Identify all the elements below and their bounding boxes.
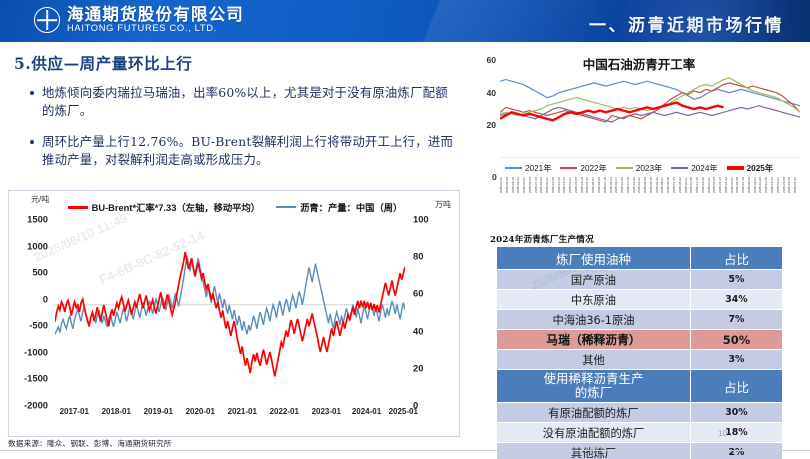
y-tick-left: 0 (9, 293, 53, 304)
haitong-logo-icon (34, 7, 60, 33)
y-tick-right: 80 (407, 251, 447, 262)
refinery-production-table: 炼厂使用油种 占比 国产原油 5% 中东原油 34% 中海油36-1原油 7% (496, 246, 783, 459)
y-tick-left: -2000 (9, 400, 53, 411)
chart-x-axis: 2017-01 2018-01 2019-01 2020-01 2021-01 … (55, 407, 405, 421)
company-logo: 海通期货股份有限公司 HAITONG FUTURES CO., LTD. (34, 6, 244, 34)
legend-item-2025: 2025年 (727, 162, 773, 174)
column-header-share-2: 占比 (691, 370, 783, 403)
series-line-2021 (500, 80, 800, 106)
table-row: 国产原油 5% (497, 270, 783, 290)
table-row: 中海油36-1原油 7% (497, 310, 783, 330)
legend-swatch-red (68, 206, 88, 209)
header-line-1: 使用稀释沥青生产 (543, 371, 643, 386)
cell-share: 30% (691, 403, 783, 423)
table-header-row-2: 使用稀释沥青生产 的炼厂 占比 (497, 370, 783, 403)
bullet-text: 周环比产量上行12.76%。BU-Brent裂解利润上行将带动开工上行，进而推动… (42, 133, 454, 169)
legend-swatch-blue (276, 206, 296, 209)
slide-body: 5.供应—周产量环比上行 地炼倾向委内瑞拉马瑞油，出率60%以上，尤其是对于没有… (0, 42, 810, 459)
legend-label: 2023年 (636, 162, 662, 174)
legend-item-bu-brent: BU-Brent*汇率*7.33（左轴，移动平均） (68, 200, 260, 214)
legend-item-2023: 2023年 (616, 162, 662, 174)
y-tick-left: 1500 (9, 214, 53, 225)
x-tick: 2020-01 (186, 407, 215, 416)
x-tick: 2019-01 (144, 407, 173, 416)
page-number: 10 (718, 428, 727, 438)
bullet-dot-icon (30, 91, 34, 95)
company-name-en: HAITONG FUTURES CO., LTD. (67, 24, 244, 34)
legend-swatch-2021 (505, 167, 522, 169)
y-tick-right: 60 (407, 288, 447, 299)
slide-header: 海通期货股份有限公司 HAITONG FUTURES CO., LTD. 一、沥… (0, 0, 810, 42)
cell-share: 7% (691, 310, 783, 330)
page-title: 5.供应—周产量环比上行 (14, 52, 192, 74)
bullet-dot-icon (30, 140, 34, 144)
slide-root: 海通期货股份有限公司 HAITONG FUTURES CO., LTD. 一、沥… (0, 0, 810, 459)
table-header-row: 炼厂使用油种 占比 (497, 247, 783, 270)
series-line-bu-brent (55, 252, 405, 376)
chart-legend: BU-Brent*汇率*7.33（左轴，移动平均） 沥青：产量：中国（周） (9, 197, 461, 217)
series-line-2022 (500, 83, 800, 122)
cell-oil-type: 马瑞（稀释沥青） (497, 330, 691, 350)
legend-item-production: 沥青：产量：中国（周） (276, 200, 402, 214)
legend-swatch-2024 (671, 167, 688, 169)
y-tick-left: 500 (9, 267, 53, 278)
cell-share: 18% (691, 423, 783, 443)
table-caption: 2024年沥青炼厂生产情况 (490, 233, 594, 245)
x-tick: 2018-01 (102, 407, 131, 416)
y-tick-left: -500 (9, 320, 53, 331)
logo-text-block: 海通期货股份有限公司 HAITONG FUTURES CO., LTD. (67, 6, 244, 34)
y-tick-left: -1500 (9, 373, 53, 384)
list-item: 地炼倾向委内瑞拉马瑞油，出率60%以上，尤其是对于没有原油炼厂配额的炼厂。 (30, 84, 454, 120)
table-row: 有原油配额的炼厂 30% (497, 403, 783, 423)
legend-item-2022: 2022年 (560, 162, 606, 174)
chart-svg (500, 60, 800, 158)
column-header-oil-type: 炼厂使用油种 (497, 247, 691, 270)
cell-oil-type: 中东原油 (497, 290, 691, 310)
y-tick: 20 (474, 120, 498, 130)
table-row: 没有原油配额的炼厂 18% (497, 423, 783, 443)
y-tick-right: 100 (407, 214, 447, 225)
data-source-note: 数据来源：隆众、钢联、彭博、海通期货研究所 (8, 438, 460, 449)
cell-oil-type: 中海油36-1原油 (497, 310, 691, 330)
cell-share: 3% (691, 350, 783, 370)
right-column: 中国石油沥青开工率 60 40 20 0 (468, 42, 810, 459)
legend-swatch-2022 (560, 167, 577, 169)
x-tick: 2017-01 (60, 407, 89, 416)
bullet-text: 地炼倾向委内瑞拉马瑞油，出率60%以上，尤其是对于没有原油炼厂配额的炼厂。 (42, 84, 454, 120)
cell-refinery-type: 没有原油配额的炼厂 (497, 423, 691, 443)
chart-plot-area (55, 219, 405, 405)
cell-share: 50% (691, 330, 783, 350)
list-item: 周环比产量上行12.76%。BU-Brent裂解利润上行将带动开工上行，进而推动… (30, 133, 454, 169)
legend-item-2021: 2021年 (505, 162, 551, 174)
chart-y-axis-right: 100 80 60 40 20 0 (407, 219, 447, 405)
cell-share: 5% (691, 270, 783, 290)
chart-x-axis: 2025-01-012025-02-082025-03-152025-04-22… (500, 177, 800, 195)
legend-item-2024: 2024年 (671, 162, 717, 174)
legend-swatch-2023 (616, 167, 633, 169)
x-tick: 2025-01 (389, 407, 418, 416)
legend-label: 沥青：产量：中国（周） (300, 200, 402, 214)
legend-swatch-2025 (727, 166, 744, 169)
legend-label: BU-Brent*汇率*7.33（左轴，移动平均） (92, 200, 260, 214)
chart-bu-brent-production: 元/吨 万吨 BU-Brent*汇率*7.33（左轴，移动平均） 沥青：产量：中… (8, 190, 460, 437)
x-tick: 2024-01 (352, 407, 381, 416)
y-tick-right: 20 (407, 362, 447, 373)
left-column: 5.供应—周产量环比上行 地炼倾向委内瑞拉马瑞油，出率60%以上，尤其是对于没有… (0, 42, 468, 459)
table-row-highlighted: 马瑞（稀释沥青） 50% (497, 330, 783, 350)
y-tick: 60 (474, 55, 498, 65)
header-section-title: 一、沥青近期市场行情 (589, 11, 784, 36)
y-tick-right: 40 (407, 325, 447, 336)
legend-label: 2021年 (525, 162, 551, 174)
legend-label: 2025年 (747, 162, 773, 174)
chart-y-axis: 60 40 20 (474, 60, 498, 158)
chart-legend: 2021年 2022年 2023年 2024年 (472, 160, 806, 176)
column-header-refinery-type: 使用稀释沥青生产 的炼厂 (497, 370, 691, 403)
footer-divider (0, 450, 810, 451)
x-tick: 2022-01 (270, 407, 299, 416)
company-name-cn: 海通期货股份有限公司 (67, 6, 244, 23)
table-row: 其他 3% (497, 350, 783, 370)
x-tick: 2023-01 (312, 407, 341, 416)
x-tick: 2021-01 (228, 407, 257, 416)
header-line-2: 的炼厂 (575, 385, 613, 400)
x-tick: 2025-04-22 (794, 177, 800, 195)
bullet-list: 地炼倾向委内瑞拉马瑞油，出率60%以上，尤其是对于没有原油炼厂配额的炼厂。 周环… (30, 84, 454, 182)
legend-label: 2024年 (691, 162, 717, 174)
y-tick-left: -1000 (9, 346, 53, 357)
chart-plot-area (500, 60, 800, 158)
chart-svg (55, 219, 405, 405)
y-tick: 40 (474, 88, 498, 98)
table-row: 中东原油 34% (497, 290, 783, 310)
cell-refinery-type: 有原油配额的炼厂 (497, 403, 691, 423)
column-header-share: 占比 (691, 247, 783, 270)
y-tick-left: 1000 (9, 240, 53, 251)
cell-oil-type: 其他 (497, 350, 691, 370)
chart-y-axis-left: 1500 1000 500 0 -500 -1000 -1500 -2000 (9, 219, 53, 405)
chart-china-asphalt-operating-rate: 中国石油沥青开工率 60 40 20 0 (472, 46, 806, 216)
legend-label: 2022年 (580, 162, 606, 174)
cell-oil-type: 国产原油 (497, 270, 691, 290)
cell-share: 34% (691, 290, 783, 310)
